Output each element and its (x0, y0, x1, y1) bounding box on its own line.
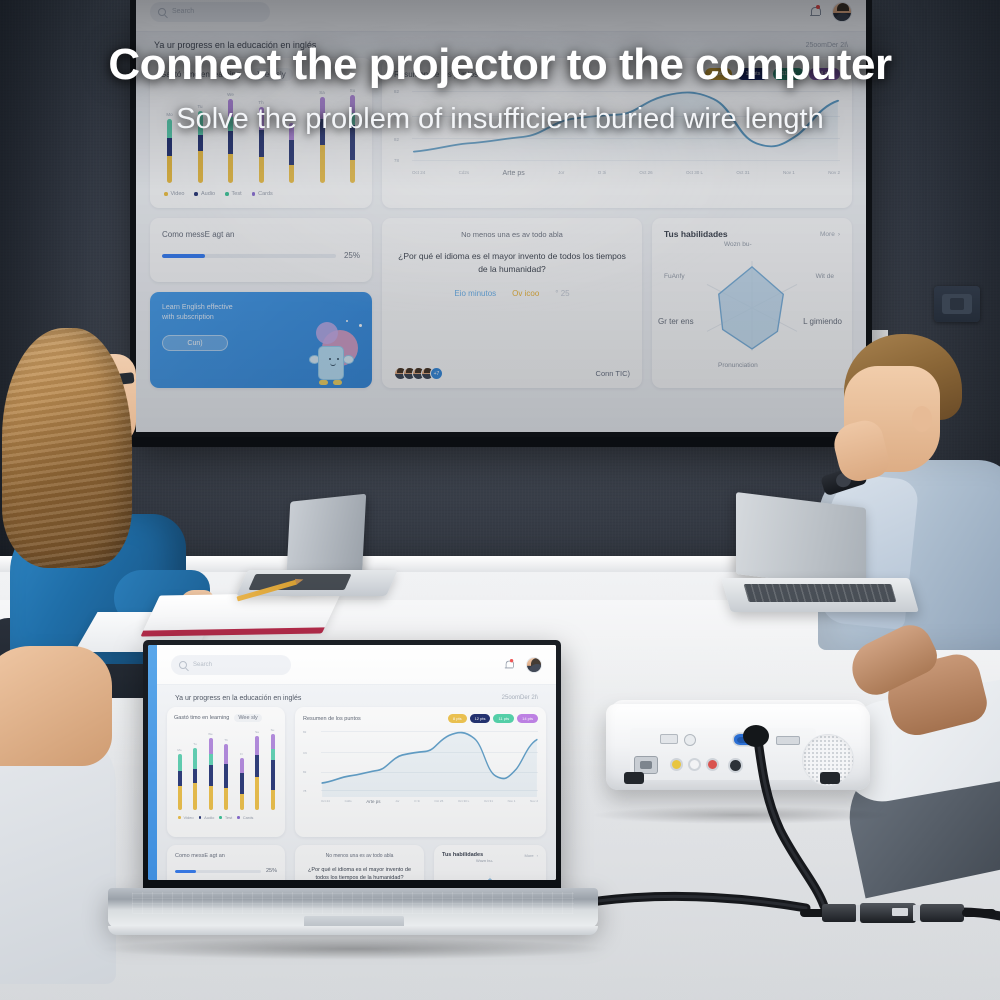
x-tick: Jor (558, 170, 564, 182)
dashboard-row-2: Como messE agt an 25% L (150, 218, 852, 388)
dashboard-body: Gastó timo en learning Wee sly Mo Tu We … (167, 707, 546, 874)
card-title: Como messE agt an (162, 230, 360, 239)
more-link[interactable]: More › (525, 853, 538, 858)
scene: Search Ya ur progress en la educación en… (0, 0, 1000, 1000)
audio-jack-port[interactable] (728, 758, 743, 773)
dashboard-column-left: Como messE agt an 25% Learn English effe… (167, 845, 285, 880)
page-headline: Connect the projector to the computer (0, 40, 1000, 90)
chevron-right-icon: › (838, 231, 840, 238)
page-title: Ya ur progress en la educación en inglés (175, 695, 301, 702)
dashboard-row-1: Gastó timo en learning Wee sly Mo Tu We … (167, 707, 546, 837)
avatar-overflow[interactable]: +7 (430, 367, 443, 380)
progress-value: 25% (266, 868, 277, 874)
progress-row: 25% (175, 868, 277, 874)
bar-column[interactable]: Th (224, 738, 229, 810)
card-time-spent: Gastó timo en learning Wee sly Mo Tu We … (167, 707, 285, 837)
dashboard-row-2: Como messE agt an 25% Learn English effe… (167, 845, 546, 880)
bar-label: We (227, 92, 234, 97)
x-axis: Oct 24 Cd2s Arte ps Jor O 3i Oct 26 Oct … (321, 799, 538, 811)
more-label: More (820, 231, 835, 238)
card-header: Tus habilidades More › (664, 229, 840, 239)
card-title: Resumen de los puntos (303, 716, 361, 722)
dashboard-topbar: Search (136, 0, 866, 32)
coupler-connector-right (920, 904, 964, 922)
x-tick: Oct 24 (412, 170, 425, 182)
laptop-lid (736, 492, 866, 590)
legend-label: Cards (258, 191, 273, 197)
y-axis: 82 C9 82 78 (303, 727, 321, 797)
card-title: Gastó timo en learning (174, 715, 229, 721)
radar-axis-label: Pronunciation (718, 362, 758, 369)
legend-label: Test (232, 191, 242, 197)
x-tick: Oct 31 (736, 170, 749, 182)
bar-column[interactable]: Su (270, 728, 275, 810)
laptop-main: Search Ya ur progress en la educación en… (108, 640, 598, 950)
y-tick: 78 (394, 158, 399, 163)
x-tick: Nov 1 (783, 170, 795, 182)
hdmi-port[interactable] (776, 736, 800, 745)
legend-item: Test (225, 191, 242, 197)
line-chart: 82 C9 82 78 (303, 727, 538, 811)
promo-line-1: Learn English effective (162, 303, 254, 313)
progress-value: 25% (344, 251, 360, 260)
projector (596, 696, 884, 816)
avatar[interactable] (832, 2, 852, 22)
line-series (321, 727, 538, 797)
coupler-ring (913, 905, 920, 921)
y-tick: 82 (394, 89, 399, 94)
projector-body (606, 704, 870, 790)
rca-audio-left-port[interactable] (688, 758, 701, 771)
meta-topic: Ov icoo (512, 289, 539, 298)
search-icon (158, 8, 166, 16)
person-hair (2, 328, 132, 568)
card-question: No menos una es av todo abla ¿Por qué el… (382, 218, 642, 388)
search-icon (179, 661, 187, 669)
bar-column[interactable]: Tu (193, 742, 198, 810)
search-input[interactable]: Search (171, 655, 291, 675)
bar-label: Sa (319, 90, 325, 95)
usb-b-port[interactable] (684, 734, 696, 746)
y-tick: 82 (394, 137, 399, 142)
legend-item: Audio (194, 191, 215, 197)
progress-bar (175, 870, 261, 873)
question-meta: Eio minutos Ov icoo ° 25 (394, 289, 630, 298)
rca-audio-right-port[interactable] (706, 758, 719, 771)
laptop-screen: Search Ya ur progress en la educación en… (148, 645, 556, 880)
card-progress: Como messE agt an 25% (150, 218, 372, 282)
card-header: Gastó timo en learning Wee sly (174, 714, 278, 722)
hdmi-coupler (800, 896, 996, 930)
usb-port[interactable] (660, 734, 678, 744)
search-placeholder: Search (193, 662, 212, 668)
topbar-actions (504, 657, 542, 673)
topbar-actions (810, 2, 852, 22)
date-label: 25oomDer 2I\ (502, 695, 538, 701)
progress-fill (162, 254, 205, 258)
meta-duration: Eio minutos (454, 289, 496, 298)
search-placeholder: Search (172, 8, 194, 15)
question-text: ¿Por qué el idioma es el mayor invento d… (303, 866, 416, 880)
meta-count: ° 25 (555, 289, 569, 298)
laptop-front-edge (108, 926, 598, 935)
question-header: No menos una es av todo abla (303, 853, 416, 859)
card-question: No menos una es av todo abla ¿Por qué el… (295, 845, 424, 880)
bar-legend: Video Audio Test Cards (160, 191, 362, 197)
question-footer: +7 Conn TIC) (394, 367, 630, 380)
bar-chart: Mo Tu We Th Fr Sa Su (174, 730, 278, 810)
person-arm (0, 646, 112, 766)
x-tick: Oct 26 (639, 170, 652, 182)
x-tick: Arte ps (503, 170, 525, 182)
x-tick: Oct 30 L (686, 170, 703, 182)
question-header: No menos una es av todo abla (394, 230, 630, 239)
bar-column[interactable]: Mo (177, 748, 182, 810)
radar-chart: Wozn bu- Wit de L gimiendo Pronunciation… (442, 860, 538, 880)
legend-label: Audio (201, 191, 215, 197)
x-tick: O 3i (598, 170, 606, 182)
x-tick: Nov 2 (828, 170, 840, 182)
bar-column[interactable]: Sa (255, 730, 260, 810)
legend-label: Video (171, 191, 185, 197)
coupler-connector-left (822, 904, 856, 922)
laptop-lid: Search Ya ur progress en la educación en… (143, 640, 561, 892)
more-link[interactable]: More › (820, 231, 840, 238)
vga-port[interactable] (734, 734, 764, 745)
legend-item: Video (164, 191, 184, 197)
radar-axis-label: FuAnfy (664, 273, 685, 280)
chip-group: 8 pts 12 pts 11 pts 14 pts (448, 714, 538, 723)
x-axis: Oct 24 Cd2s Arte ps Jor O 3i Oct 26 Oct … (412, 170, 840, 182)
rca-video-port[interactable] (670, 758, 683, 771)
chevron-right-icon: › (537, 853, 538, 858)
radar-axis-label: Gr ter ens (658, 317, 694, 326)
card-progress: Como messE agt an 25% (167, 845, 285, 880)
projector-foot (624, 772, 644, 784)
person-ear (912, 406, 932, 432)
dashboard-laptop: Search Ya ur progress en la educación en… (157, 645, 556, 880)
bar-column[interactable]: Fr (239, 752, 244, 810)
projector-port-panel (630, 728, 816, 780)
projector-foot (820, 772, 840, 784)
week-tab[interactable]: Wee sly (234, 714, 261, 722)
card-title: Como messE agt an (175, 853, 277, 859)
wall-control-panel[interactable] (934, 286, 980, 322)
question-text: ¿Por qué el idioma es el mayor invento d… (394, 250, 630, 276)
card-points-summary: Resumen de los puntos 8 pts 12 pts 11 pt… (295, 707, 546, 837)
bar-column[interactable]: We (208, 732, 213, 810)
dashboard-topbar: Search (157, 645, 556, 685)
radar-axis-label: Wozn bu- (724, 241, 752, 248)
app-sidebar[interactable] (148, 645, 157, 880)
progress-row: 25% (162, 251, 360, 260)
search-input[interactable]: Search (150, 2, 270, 22)
participant-avatars[interactable]: +7 (394, 367, 443, 380)
coupler-label (892, 908, 908, 916)
bell-icon[interactable] (505, 660, 514, 669)
bar-legend: Video Audio Test Cards (174, 815, 278, 820)
coupler-cable-right (962, 909, 996, 917)
page-subheadline: Solve the problem of insufficient buried… (0, 103, 1000, 136)
card-title: Tus habilidades (664, 229, 728, 239)
laptop-keyboard[interactable] (132, 892, 574, 914)
x-tick: Cd2s (459, 170, 470, 182)
radar-axis-label: L gimiendo (803, 317, 842, 326)
card-skills: Tus habilidades More › (434, 845, 546, 880)
footer-label: Conn TIC) (596, 369, 630, 378)
bell-icon[interactable] (810, 6, 820, 17)
mascot-illustration (290, 320, 364, 386)
card-header: Resumen de los puntos 8 pts 12 pts 11 pt… (303, 714, 538, 723)
progress-bar (162, 254, 336, 258)
legend-item: Cards (252, 191, 273, 197)
progress-fill (175, 870, 196, 873)
laptop-center (242, 498, 388, 598)
avatar[interactable] (526, 657, 542, 673)
radar-axis-label: Wit de (816, 273, 834, 280)
